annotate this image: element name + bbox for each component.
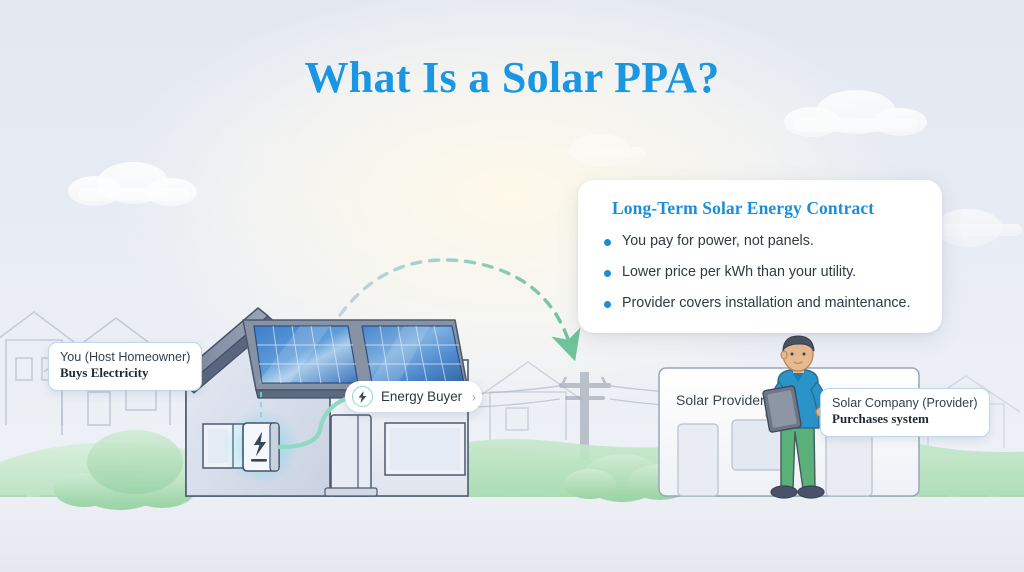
energy-buyer-badge: Energy Buyer › xyxy=(345,381,482,412)
list-item: Provider covers installation and mainten… xyxy=(602,295,920,313)
list-item: You pay for power, not panels. xyxy=(602,233,920,251)
list-item: Lower price per kWh than your utility. xyxy=(602,264,920,282)
energy-buyer-label: Energy Buyer xyxy=(381,389,462,404)
house-door xyxy=(325,415,377,496)
callout-provider-line2: Purchases system xyxy=(832,411,978,427)
callout-homeowner-line2: Buys Electricity xyxy=(60,365,190,381)
inverter-box xyxy=(243,423,279,471)
bullet-dot-icon xyxy=(604,270,611,277)
card-heading: Long-Term Solar Energy Contract xyxy=(612,198,920,219)
provider-building-label: Solar Provider xyxy=(676,392,765,408)
infographic-canvas: What Is a Solar PPA? Long-Term Solar Ene… xyxy=(0,0,1024,572)
callout-provider: Solar Company (Provider) Purchases syste… xyxy=(820,388,990,437)
callout-homeowner: You (Host Homeowner) Buys Electricity xyxy=(48,342,202,391)
bolt-icon xyxy=(352,386,373,407)
house-window xyxy=(385,423,465,475)
list-item-text: Provider covers installation and mainten… xyxy=(622,295,910,311)
list-item-text: You pay for power, not panels. xyxy=(622,233,814,249)
chevron-right-icon: › xyxy=(472,390,476,403)
contract-info-card: Long-Term Solar Energy Contract You pay … xyxy=(578,180,942,333)
callout-homeowner-line1: You (Host Homeowner) xyxy=(60,350,190,365)
list-item-text: Lower price per kWh than your utility. xyxy=(622,264,856,280)
bullet-dot-icon xyxy=(604,301,611,308)
card-bullet-list: You pay for power, not panels. Lower pri… xyxy=(602,233,920,313)
callout-provider-line1: Solar Company (Provider) xyxy=(832,396,978,411)
page-title: What Is a Solar PPA? xyxy=(0,52,1024,103)
bullet-dot-icon xyxy=(604,239,611,246)
